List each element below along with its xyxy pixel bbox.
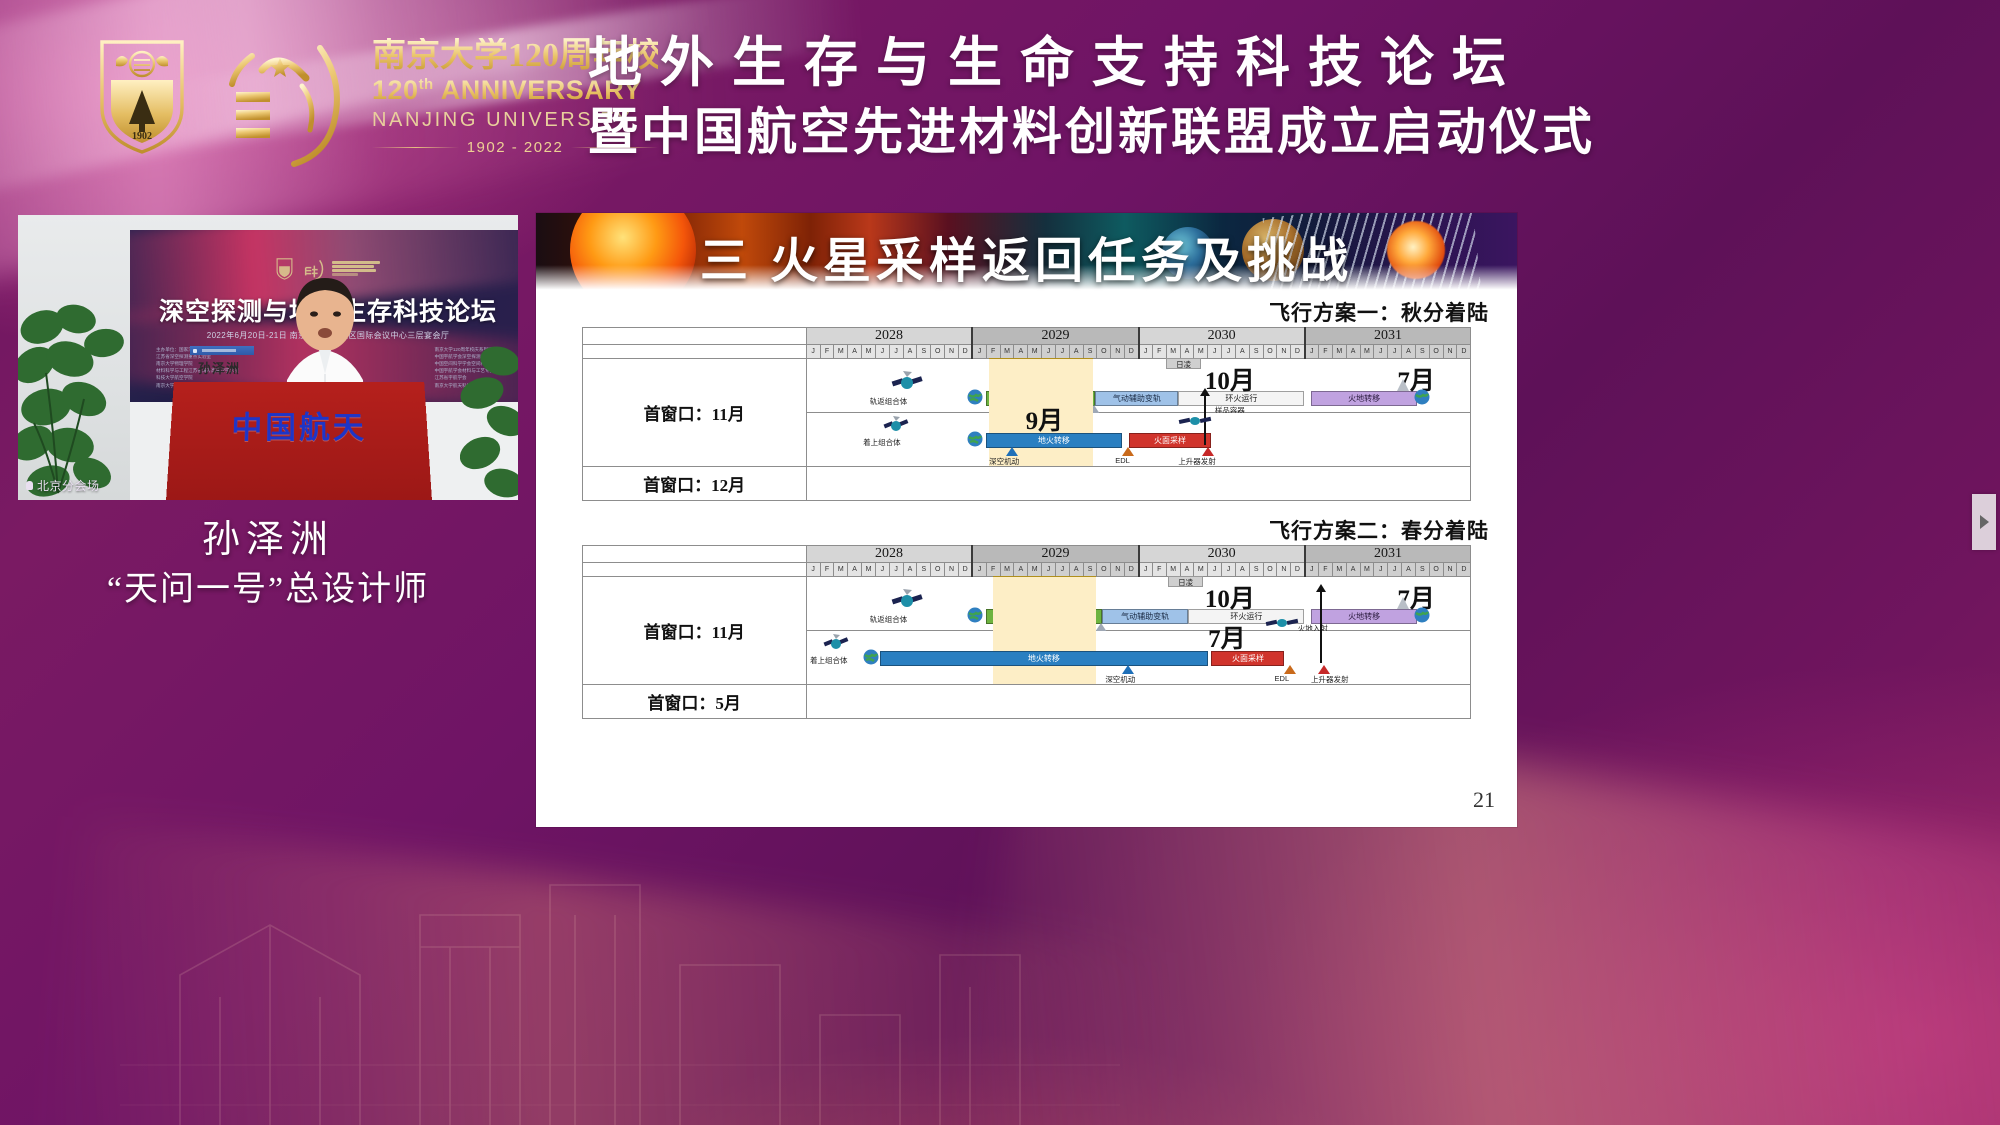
plan-1-track-2: 着上组合体 地火转移 火面采样 9月 深空机动 EDL — [806, 413, 1471, 467]
month-cell: J — [1042, 345, 1056, 359]
plan-2-big-month-4: 7月 — [1208, 619, 1246, 655]
slide-title: 三 火星采样返回任务及挑战 — [536, 221, 1517, 291]
anniversary-number: 120 — [372, 75, 419, 105]
month-cell: S — [1415, 345, 1429, 359]
svg-text:1902: 1902 — [132, 131, 152, 142]
month-cell: M — [1360, 563, 1374, 577]
year-cell: 2030 — [1139, 546, 1305, 563]
month-cell: J — [1305, 563, 1319, 577]
year-cell: 2029 — [972, 328, 1138, 345]
microphone-icon — [26, 481, 33, 490]
month-cell: O — [1263, 345, 1277, 359]
month-cell: J — [1208, 345, 1222, 359]
bar-aerobraking: 气动辅助变轨 — [1095, 391, 1178, 406]
plan-2-big-month-2: 10月 — [1205, 579, 1255, 615]
month-cell: M — [1194, 345, 1208, 359]
month-cell: M — [1000, 563, 1014, 577]
month-cell: D — [958, 563, 972, 577]
cheng-emblem-icon — [202, 22, 352, 172]
month-cell: N — [1111, 345, 1125, 359]
month-cell: A — [1346, 345, 1360, 359]
month-cell: J — [1208, 563, 1222, 577]
plan-1-gantt-table: 2028 2029 2030 2031 JFMAMJJASONDJFMAMJJA… — [582, 327, 1472, 501]
month-cell: M — [834, 563, 848, 577]
month-cell: J — [1222, 345, 1236, 359]
month-cell: F — [820, 345, 834, 359]
plan-1-event-8: 上升器发射 — [1178, 456, 1216, 467]
anniversary-ordinal: th — [419, 76, 434, 93]
venue-tag: 北京分会场 — [26, 477, 100, 494]
year-cell: 2028 — [806, 328, 972, 345]
event-title-sub: 暨中国航空先进材料创新联盟成立启动仪式 — [588, 102, 1595, 163]
plant-left-icon — [18, 303, 146, 500]
month-cell: J — [889, 345, 903, 359]
nameplate-logo-dot — [193, 349, 197, 353]
month-row-spacer — [582, 345, 806, 359]
broadcast-stage: 1902 — [0, 0, 2000, 1125]
month-cell: M — [1000, 345, 1014, 359]
month-cell: F — [1318, 563, 1332, 577]
milestone-marker-ascent-2 — [1318, 665, 1330, 674]
month-cell: J — [1055, 345, 1069, 359]
ascent-vehicle-icon — [1178, 411, 1212, 431]
month-cell: J — [1388, 345, 1402, 359]
earth-icon-2 — [967, 431, 983, 447]
month-cell: M — [862, 345, 876, 359]
month-cell: J — [1139, 563, 1153, 577]
month-cell: S — [1249, 563, 1263, 577]
month-cell: J — [972, 563, 986, 577]
month-cell: M — [834, 345, 848, 359]
divider-left — [372, 147, 459, 148]
month-cell: N — [1277, 345, 1291, 359]
slide-header-banner: 三 火星采样返回任务及挑战 — [536, 213, 1517, 291]
month-cell: F — [1152, 563, 1166, 577]
month-cell: J — [806, 563, 820, 577]
month-cell: A — [1014, 563, 1028, 577]
month-cell: D — [1125, 563, 1139, 577]
nameplate-logo-line — [202, 349, 236, 352]
month-cell: S — [1415, 563, 1429, 577]
month-cell: F — [986, 563, 1000, 577]
earth-return-icon-2 — [1414, 607, 1430, 623]
month-cell: D — [1291, 345, 1305, 359]
nju-shield-icon: 1902 — [96, 38, 188, 156]
milestone-marker-ascent — [1202, 447, 1214, 456]
bar-earth-mars-transfer-4: 地火转移 — [880, 651, 1208, 666]
month-cell: D — [958, 345, 972, 359]
month-cell: M — [1028, 345, 1042, 359]
month-cell: O — [1429, 345, 1443, 359]
conjunction-label-2: 日凌 — [1168, 576, 1203, 587]
year-cell: 2030 — [1139, 328, 1305, 345]
month-cell: O — [1263, 563, 1277, 577]
plan-1-month-row: JFMAMJJASONDJFMAMJJASONDJFMAMJJASONDJFMA… — [582, 345, 1471, 359]
month-cell: N — [1277, 563, 1291, 577]
month-cell: M — [1360, 345, 1374, 359]
month-cell: M — [862, 563, 876, 577]
podium: 中国航天 — [166, 382, 432, 500]
return-capsule-icon-2 — [1394, 595, 1412, 613]
month-cell: A — [1069, 563, 1083, 577]
month-cell: O — [931, 563, 945, 577]
dust-season-column-4 — [993, 577, 1097, 684]
month-cell: A — [903, 345, 917, 359]
plan-1-craft-label-1: 轨返组合体 — [870, 396, 908, 407]
month-cell: J — [806, 345, 820, 359]
month-cell: N — [945, 563, 959, 577]
month-cell: S — [917, 563, 931, 577]
plan-2-year-row: 2028 2029 2030 2031 — [582, 546, 1471, 563]
plan-1-event-7: EDL — [1115, 456, 1130, 465]
milestone-marker-deep-space-2 — [1006, 447, 1018, 456]
month-cell: M — [1332, 563, 1346, 577]
plan-2-track-1: 尘暴季节 日凌 轨返组合体 地火转移 气动辅助变轨 环火运行 — [806, 577, 1471, 631]
year-cell: 2031 — [1305, 328, 1471, 345]
speaker-name: 孙泽洲 — [18, 515, 518, 566]
month-cell: D — [1457, 345, 1471, 359]
earth-icon-4 — [863, 649, 879, 665]
month-cell: J — [1305, 345, 1319, 359]
plan-2-event-8: 上升器发射 — [1311, 674, 1349, 685]
month-cell: N — [945, 345, 959, 359]
plan-1-footer-cell — [806, 467, 1471, 501]
venue-tag-label: 北京分会场 — [37, 477, 100, 494]
month-cell: M — [1166, 563, 1180, 577]
month-cell: S — [1083, 563, 1097, 577]
next-slide-button[interactable] — [1972, 494, 1996, 550]
plan-2-window-2: 首窗口：5月 — [582, 685, 806, 719]
earth-icon-3 — [967, 607, 983, 623]
event-header: 1902 — [0, 0, 2000, 196]
presentation-slide[interactable]: 三 火星采样返回任务及挑战 飞行方案一：秋分着陆 2028 2029 2030 … — [536, 213, 1517, 827]
month-cell: S — [917, 345, 931, 359]
plan-1-big-month-4: 9月 — [1026, 401, 1064, 437]
event-title-main: 地外生存与生命支持科技论坛 — [588, 32, 1595, 96]
month-cell: J — [875, 563, 889, 577]
month-cell: J — [1374, 345, 1388, 359]
month-cell: S — [1249, 345, 1263, 359]
month-row-spacer — [582, 563, 806, 577]
month-cell: J — [1222, 563, 1236, 577]
milestone-marker-edl — [1122, 447, 1134, 456]
plan-1-window-2: 首窗口：12月 — [582, 467, 806, 501]
plan-1-gantt-wrap: 2028 2029 2030 2031 JFMAMJJASONDJFMAMJJA… — [536, 327, 1517, 501]
month-cell: A — [1402, 345, 1416, 359]
month-cell: J — [1374, 563, 1388, 577]
plan-1-window-1: 首窗口：11月 — [582, 359, 806, 467]
month-cell: A — [848, 345, 862, 359]
plan-2-gantt-wrap: 2028 2029 2030 2031 JFMAMJJASONDJFMAMJJA… — [536, 545, 1517, 719]
plant-right-icon — [460, 343, 518, 500]
plan-1-big-month-2: 10月 — [1205, 361, 1255, 397]
plan-2-block: 飞行方案二：春分着陆 2028 2029 2030 2031 JFMAMJJAS… — [536, 515, 1517, 719]
lander-ascent-stack-icon-2 — [823, 633, 849, 655]
bar-surface-sampling: 火面采样 — [1129, 433, 1212, 448]
nameplate-name: 孙泽洲 — [198, 358, 240, 377]
month-cell: J — [889, 563, 903, 577]
month-cell: O — [1097, 563, 1111, 577]
month-cell: M — [1166, 345, 1180, 359]
plan-1-craft-label-2: 着上组合体 — [863, 437, 901, 448]
speaker-title: “天问一号”总设计师 — [18, 566, 518, 614]
earth-icon — [967, 389, 983, 405]
month-cell: F — [1318, 345, 1332, 359]
podium-text: 中国航天 — [231, 403, 367, 447]
nju-anniversary-logo: 1902 — [96, 22, 658, 172]
earth-return-icon — [1414, 389, 1430, 405]
plan-1-year-row: 2028 2029 2030 2031 — [582, 328, 1471, 345]
orbiter-return-satellite-icon — [890, 369, 924, 395]
month-cell: A — [1346, 563, 1360, 577]
plan-2-footer-cell — [806, 685, 1471, 719]
plan-1-block: 飞行方案一：秋分着陆 2028 2029 2030 2031 JFMAMJJAS… — [536, 297, 1517, 501]
month-cell: F — [1152, 345, 1166, 359]
plan-2-window-1: 首窗口：11月 — [582, 577, 806, 685]
milestone-marker-edl-2 — [1284, 665, 1296, 674]
orbiter-return-satellite-icon-2 — [890, 587, 924, 613]
plan-2-craft-label-1: 轨返组合体 — [870, 614, 908, 625]
return-capsule-icon — [1394, 377, 1412, 395]
ascent-arrow-icon-2 — [1320, 591, 1322, 663]
month-cell: F — [986, 345, 1000, 359]
plan-2-heading: 飞行方案二：春分着陆 — [536, 515, 1517, 545]
month-cell: N — [1111, 563, 1125, 577]
month-cell: A — [1180, 563, 1194, 577]
month-cell: A — [1235, 563, 1249, 577]
plan-2-window-row: 首窗口：5月 — [582, 685, 1471, 719]
month-cell: A — [1180, 345, 1194, 359]
month-cell: N — [1443, 563, 1457, 577]
plan-2-craft-label-2: 着上组合体 — [810, 655, 848, 666]
plan-2-event-7: EDL — [1275, 674, 1290, 683]
month-cell: M — [1028, 563, 1042, 577]
nameplate-holder — [190, 346, 254, 355]
anniversary-years: 1902 - 2022 — [467, 139, 564, 156]
year-cell: 2031 — [1305, 546, 1471, 563]
milestone-marker-deep-space-4 — [1122, 665, 1134, 674]
month-cell: A — [903, 563, 917, 577]
plan-1-window-row: 首窗口：12月 — [582, 467, 1471, 501]
month-cell: O — [1097, 345, 1111, 359]
month-cell: J — [1388, 563, 1402, 577]
month-cell: D — [1125, 345, 1139, 359]
month-cell: D — [1457, 563, 1471, 577]
bar-aerobraking-2: 气动辅助变轨 — [1102, 609, 1188, 624]
month-cell: N — [1443, 345, 1457, 359]
plan-2-track-2: 着上组合体 地火转移 火面采样 7月 深空机动 EDL — [806, 631, 1471, 685]
lander-ascent-stack-icon — [883, 415, 909, 437]
month-cell: M — [1194, 563, 1208, 577]
month-cell: S — [1083, 345, 1097, 359]
speaker-caption: 孙泽洲 “天问一号”总设计师 — [18, 515, 518, 614]
chevron-right-icon — [1980, 515, 1989, 529]
plan-1-heading: 飞行方案一：秋分着陆 — [536, 297, 1517, 327]
plan-2-month-row: JFMAMJJASONDJFMAMJJASONDJFMAMJJASONDJFMA… — [582, 563, 1471, 577]
month-cell: A — [1014, 345, 1028, 359]
month-cell: O — [1429, 563, 1443, 577]
event-titles: 地外生存与生命支持科技论坛 暨中国航空先进材料创新联盟成立启动仪式 — [588, 32, 1595, 163]
month-cell: D — [1291, 563, 1305, 577]
speaker-video-panel[interactable]: 深空探测与地外生存科技论坛 2022年6月20日-21日 南京大学仙林校区国际会… — [18, 215, 518, 500]
month-cell: J — [1139, 345, 1153, 359]
month-cell: A — [848, 563, 862, 577]
year-cell: 2028 — [806, 546, 972, 563]
plan-2-gantt-table: 2028 2029 2030 2031 JFMAMJJASONDJFMAMJJA… — [582, 545, 1472, 719]
month-cell: A — [1402, 563, 1416, 577]
plan-2-event-6: 深空机动 — [1105, 674, 1135, 685]
month-cell: A — [1069, 345, 1083, 359]
conjunction-label: 日凌 — [1166, 358, 1201, 369]
slide-page-number: 21 — [1473, 787, 1495, 813]
month-cell: J — [1055, 563, 1069, 577]
month-cell: J — [1042, 563, 1056, 577]
month-cell: M — [1332, 345, 1346, 359]
ascent-vehicle-icon-2 — [1265, 613, 1299, 633]
month-cell: O — [931, 345, 945, 359]
month-cell: A — [1235, 345, 1249, 359]
month-cell: J — [972, 345, 986, 359]
plan-1-event-6: 深空机动 — [989, 456, 1019, 467]
month-cell: J — [875, 345, 889, 359]
plan-1-track-1: 尘暴季节 日凌 轨返组合体 地火转移 气动辅助变轨 环火运行 — [806, 359, 1471, 413]
year-cell: 2029 — [972, 546, 1138, 563]
month-cell: F — [820, 563, 834, 577]
